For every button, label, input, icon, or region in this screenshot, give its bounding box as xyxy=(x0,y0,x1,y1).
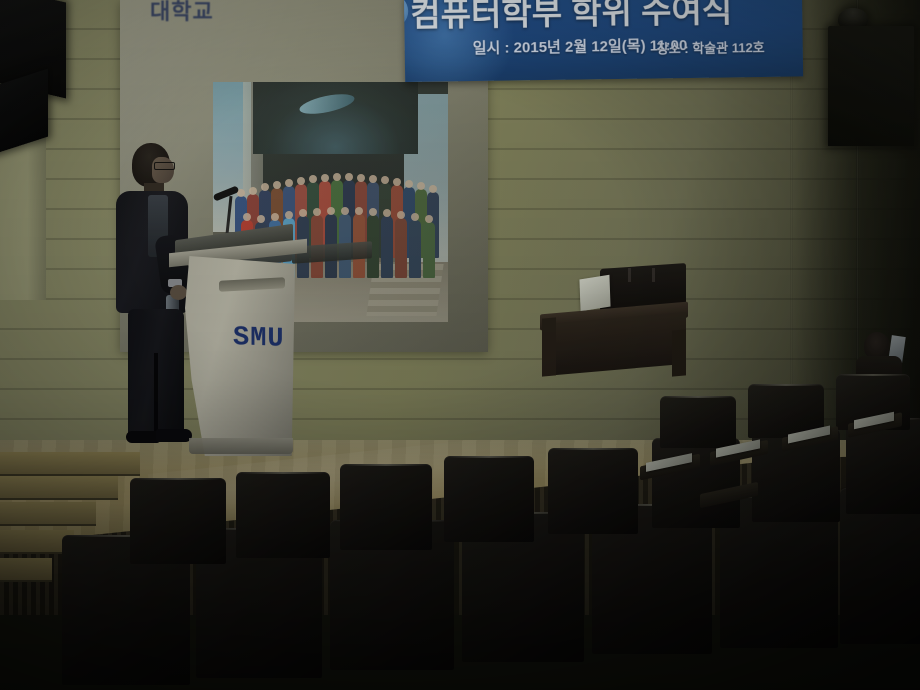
auditorium-seat xyxy=(130,478,226,564)
auditorium-seat xyxy=(660,396,736,448)
slide-person xyxy=(409,220,421,278)
banner-title: 컴퓨터학부 학위 수여식 xyxy=(410,0,733,36)
chair-divider xyxy=(628,268,631,282)
auditorium-seating xyxy=(0,360,920,690)
event-banner: 컴퓨터학부 학위 수여식 일시 : 2015년 2월 12일(목) 11:00 … xyxy=(404,0,803,82)
auditorium-seat xyxy=(444,456,534,542)
wall-speaker-icon xyxy=(828,26,914,146)
auditorium-seat xyxy=(340,464,432,550)
eyeglasses-icon xyxy=(154,162,175,170)
auditorium-seat xyxy=(548,448,638,534)
chair-divider xyxy=(652,268,655,282)
banner-datetime: 일시 : 2015년 2월 12일(목) 11:00 xyxy=(473,34,688,58)
slide-person xyxy=(381,216,393,278)
auditorium-seat xyxy=(236,472,330,558)
slide-canopy xyxy=(253,82,418,154)
presenter-face xyxy=(152,157,174,183)
slide-person xyxy=(395,218,407,278)
table-document xyxy=(579,275,610,312)
photo-scene: 대학교 컴퓨터학부 학위 수여식 일시 : 2015년 2월 12일(목) 11… xyxy=(0,0,920,690)
projected-overlay-text: 대학교 xyxy=(150,0,214,26)
banner-location: 장소 : 학술관 112호 xyxy=(657,37,765,58)
slide-person xyxy=(423,222,435,278)
podium-logo: SMU xyxy=(233,323,285,355)
